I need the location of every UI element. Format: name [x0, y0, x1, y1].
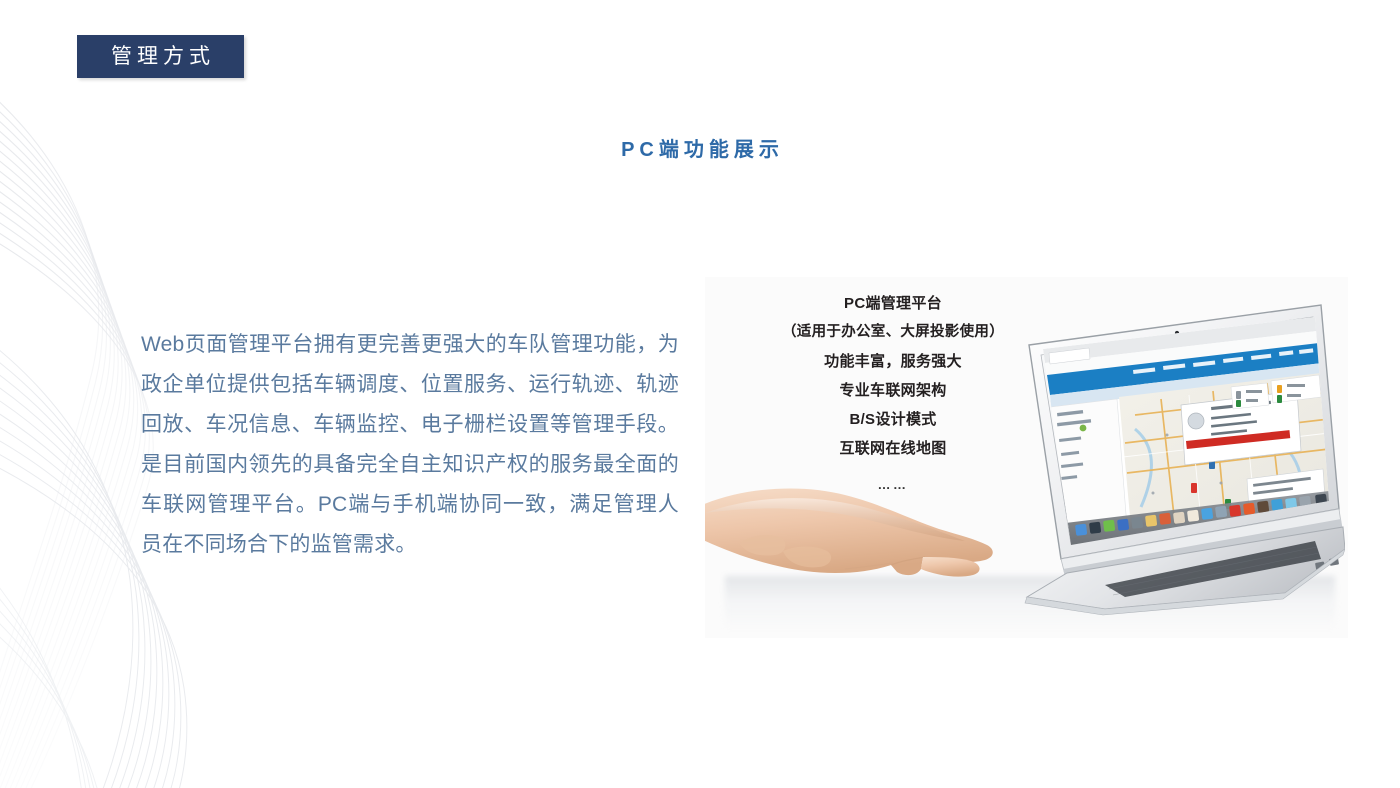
feature-line: 功能丰富，服务强大	[733, 347, 1053, 376]
section-title-text: 管理方式	[106, 46, 215, 67]
feature-line: 互联网在线地图	[733, 434, 1053, 463]
product-photo-panel: PC端管理平台 （适用于办公室、大屏投影使用） 功能丰富，服务强大 专业车联网架…	[705, 277, 1348, 638]
feature-line: （适用于办公室、大屏投影使用）	[733, 318, 1053, 347]
feature-line: B/S设计模式	[733, 405, 1053, 434]
feature-line: PC端管理平台	[733, 289, 1053, 318]
hand-on-keyboard	[705, 477, 1025, 612]
feature-list: PC端管理平台 （适用于办公室、大屏投影使用） 功能丰富，服务强大 专业车联网架…	[733, 289, 1053, 492]
slide-subtitle: PC端功能展示	[0, 133, 1400, 162]
section-title-badge: 管理方式	[77, 35, 244, 78]
body-paragraph: Web页面管理平台拥有更完善更强大的车队管理功能，为政企单位提供包括车辆调度、位…	[141, 325, 679, 565]
slide-canvas: 管理方式 PC端功能展示 Web页面管理平台拥有更完善更强大的车队管理功能，为政…	[0, 0, 1400, 788]
feature-line: 专业车联网架构	[733, 376, 1053, 405]
